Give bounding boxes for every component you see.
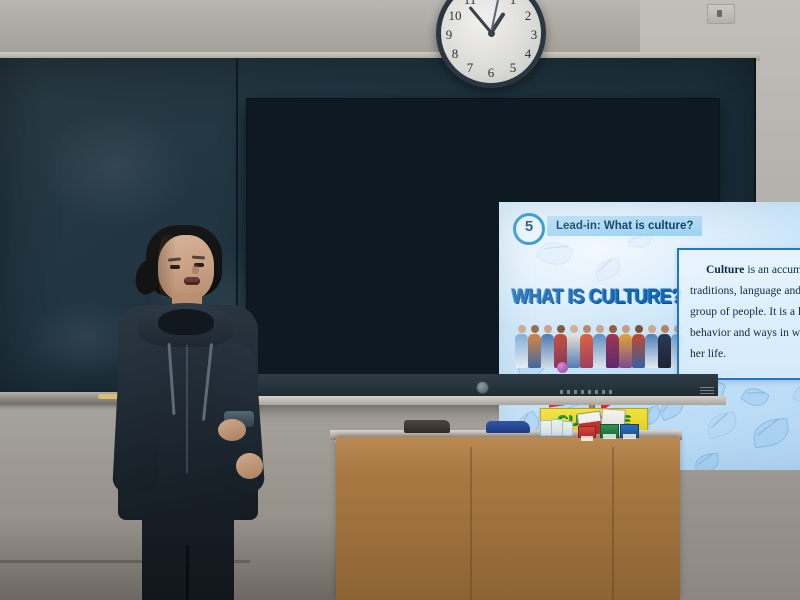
definition-lead-word: Culture <box>706 263 744 276</box>
mouth <box>184 277 200 285</box>
power-icon[interactable] <box>476 381 489 394</box>
slide-step-badge: 5 <box>513 213 545 245</box>
slide-section-label: Lead-in: What is culture? <box>547 216 702 236</box>
people-illustration <box>515 312 679 368</box>
podium-panel-seam <box>470 447 472 600</box>
eye <box>170 265 180 269</box>
left-arm <box>112 342 164 494</box>
clock-numeral: 6 <box>483 65 499 81</box>
presenter <box>118 225 258 600</box>
clock-numeral: 7 <box>462 60 478 76</box>
classroom-scene: 12 1 2 3 4 5 6 7 8 9 10 11 <box>0 0 800 600</box>
light-switch-icon[interactable] <box>707 4 735 24</box>
clock-numeral: 8 <box>447 46 463 62</box>
clock-numeral: 1 <box>505 0 521 8</box>
culture-definition-box: Culture is an accumulation of the belief… <box>677 248 800 380</box>
definition-line-1: is an accumulation of the <box>747 263 800 276</box>
podium-panel-seam <box>612 447 614 600</box>
podium-item-box-green[interactable] <box>600 424 619 438</box>
podium-item-bottle[interactable] <box>562 421 573 436</box>
clock-numeral: 2 <box>520 8 536 24</box>
clock-numeral: 4 <box>520 46 536 62</box>
interactive-flat-panel[interactable]: 5 Lead-in: What is culture? WHAT IS CULT… <box>246 98 720 400</box>
clock-numeral: 10 <box>447 8 463 24</box>
clock-numeral: 5 <box>505 60 521 76</box>
wooden-podium <box>336 437 680 600</box>
podium-item-box-red[interactable] <box>578 426 596 438</box>
clock-numeral: 9 <box>441 27 457 43</box>
speaker-grille <box>700 385 714 394</box>
left-hand <box>218 419 246 441</box>
podium-item-box-blue[interactable] <box>620 424 639 438</box>
podium-item-blue-cloth[interactable] <box>486 421 530 433</box>
clock-numeral: 3 <box>526 27 542 43</box>
artwork-title: WHAT IS CULTURE? <box>511 284 683 309</box>
display-shelf <box>240 396 726 405</box>
right-hand <box>236 453 263 479</box>
clock-center-pin <box>488 30 495 37</box>
display-control-buttons[interactable] <box>560 390 616 394</box>
podium-item-dark-cloth[interactable] <box>404 420 450 433</box>
what-is-culture-artwork: WHAT IS CULTURE? <box>511 286 683 374</box>
nose <box>192 265 199 274</box>
decorative-ball-icon <box>557 362 568 373</box>
